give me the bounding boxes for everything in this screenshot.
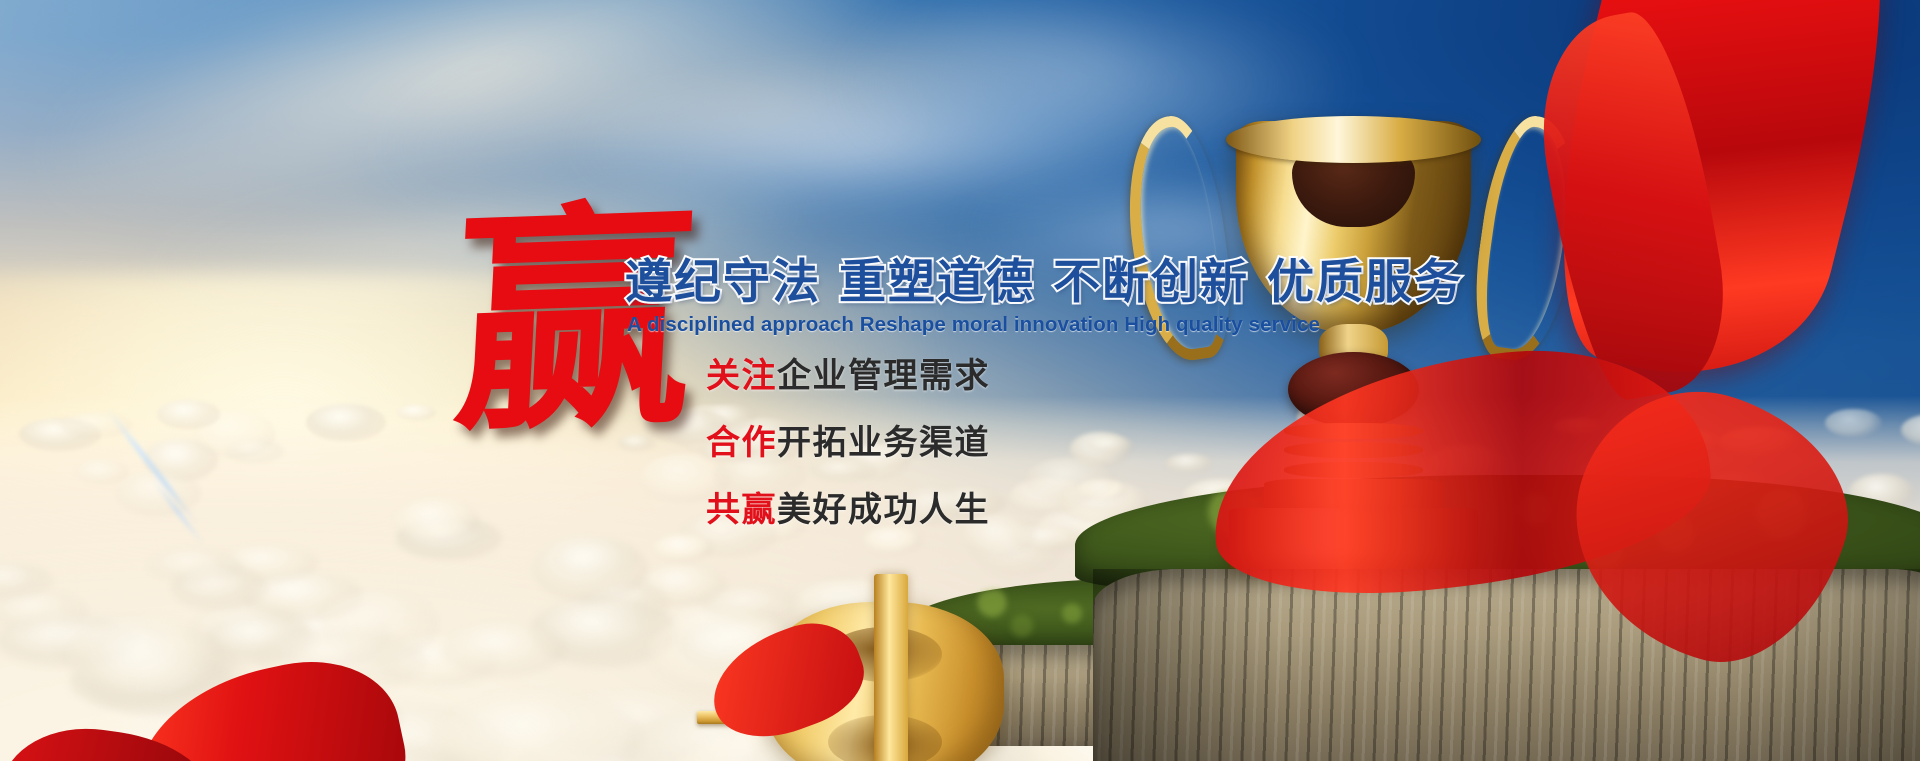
cloud-puff — [219, 545, 318, 581]
cloud-puff — [75, 460, 130, 485]
cloud-puff — [107, 741, 337, 761]
trophy-collar — [1284, 442, 1422, 458]
slogan-keyword: 共赢 — [706, 490, 777, 530]
cloud-puff — [157, 400, 220, 428]
cloud-puff — [972, 525, 1061, 577]
slogan-line: 共赢美好成功人生 — [706, 482, 990, 531]
cloud-puff — [530, 597, 678, 667]
slogan-line: 合作开拓业务渠道 — [706, 415, 990, 464]
cloud-puff — [167, 703, 366, 761]
cloud-puff — [214, 673, 372, 752]
cloud-puff — [638, 565, 727, 606]
golden-money-group — [720, 586, 1104, 761]
cloud-puff — [433, 693, 644, 761]
cloud-puff — [306, 404, 386, 441]
slogan-line-list: 关注企业管理需求合作开拓业务渠道共赢美好成功人生 — [706, 348, 990, 531]
cloud-puff — [226, 439, 284, 463]
cloud-puff — [226, 689, 402, 751]
headline-segment-2: 不断创新 — [1053, 255, 1249, 310]
cloud-puff — [397, 405, 436, 421]
cloud-puff — [87, 648, 255, 718]
cloud-puff — [306, 704, 506, 761]
cloud-puff — [265, 605, 390, 667]
headline-segment-3: 优质服务 — [1267, 255, 1463, 310]
cloud-puff — [205, 615, 318, 662]
cloud-puff — [267, 744, 492, 761]
headline-segment-0: 遵纪守法 — [625, 255, 821, 310]
cloud-puff — [394, 499, 479, 542]
cloud-puff — [194, 410, 275, 457]
promotional-banner: 赢 遵纪守法重塑道德不断创新优质服务 A disciplined approac… — [0, 0, 1920, 761]
cloud-puff — [0, 590, 88, 632]
slogan-keyword: 关注 — [706, 356, 777, 396]
english-subtitle: A disciplined approach Reshape moral inn… — [627, 313, 1320, 337]
cloud-puff — [70, 652, 235, 713]
cloud-puff — [89, 694, 271, 761]
cloud-puff — [78, 630, 234, 698]
cloud-puff — [147, 549, 243, 583]
cloud-puff — [319, 590, 439, 662]
cloud-puff — [378, 636, 497, 686]
cloud-puff — [257, 631, 427, 694]
headline-slogan: 遵纪守法重塑道德不断创新优质服务 — [625, 243, 1463, 312]
trophy-rim — [1226, 116, 1482, 163]
cloud-puff — [396, 517, 502, 560]
cloud-puff — [0, 563, 53, 599]
slogan-line: 关注企业管理需求 — [706, 348, 990, 397]
cloud-puff — [654, 535, 713, 561]
dollar-bar — [874, 574, 909, 761]
cloud-puff — [442, 623, 566, 676]
trophy-collar — [1284, 423, 1422, 439]
headline-segment-1: 重塑道德 — [839, 255, 1035, 310]
cloud-puff — [864, 527, 922, 553]
mesa-rock-face — [1093, 569, 1920, 761]
cloud-puff — [1554, 418, 1604, 435]
cloud-puff — [171, 742, 429, 761]
cloud-puff — [171, 564, 267, 611]
cloud-puff — [580, 580, 669, 625]
cloud-puff — [187, 603, 308, 667]
trophy-cup-icon — [1181, 107, 1527, 579]
slogan-keyword: 合作 — [706, 423, 777, 463]
cloud-puff — [0, 615, 137, 667]
trophy-base — [1229, 508, 1478, 569]
cloud-puff — [532, 536, 648, 602]
cloud-puff — [19, 418, 101, 450]
slogan-text: 企业管理需求 — [777, 356, 990, 396]
cloud-puff — [554, 541, 638, 578]
trophy-knob — [1288, 352, 1419, 427]
cloud-puff — [1011, 526, 1084, 551]
cloud-puff — [68, 617, 222, 700]
slogan-text: 开拓业务渠道 — [777, 423, 990, 463]
cloud-puff — [50, 614, 168, 670]
cloud-puff — [242, 572, 363, 621]
trophy-collar — [1284, 462, 1422, 478]
slogan-text: 美好成功人生 — [777, 490, 990, 530]
cloud-puff — [1825, 409, 1881, 437]
cloud-puff — [52, 727, 294, 761]
cloud-puff — [37, 725, 272, 761]
trophy-plinth — [1264, 479, 1444, 507]
